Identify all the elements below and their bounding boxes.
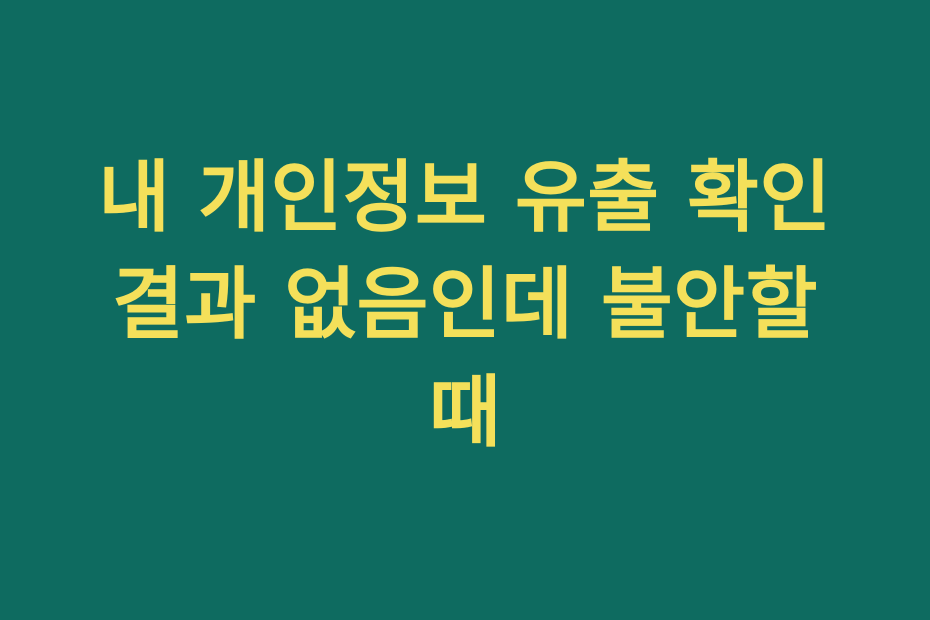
headline-line-3: 때	[429, 360, 501, 468]
headline-line-2: 결과 없음인데 불안할	[112, 252, 818, 360]
headline-line-1: 내 개인정보 유출 확인	[98, 145, 831, 253]
headline-text-block: 내 개인정보 유출 확인 결과 없음인데 불안할 때	[65, 145, 865, 468]
thumbnail-canvas: 내 개인정보 유출 확인 결과 없음인데 불안할 때	[0, 0, 930, 620]
